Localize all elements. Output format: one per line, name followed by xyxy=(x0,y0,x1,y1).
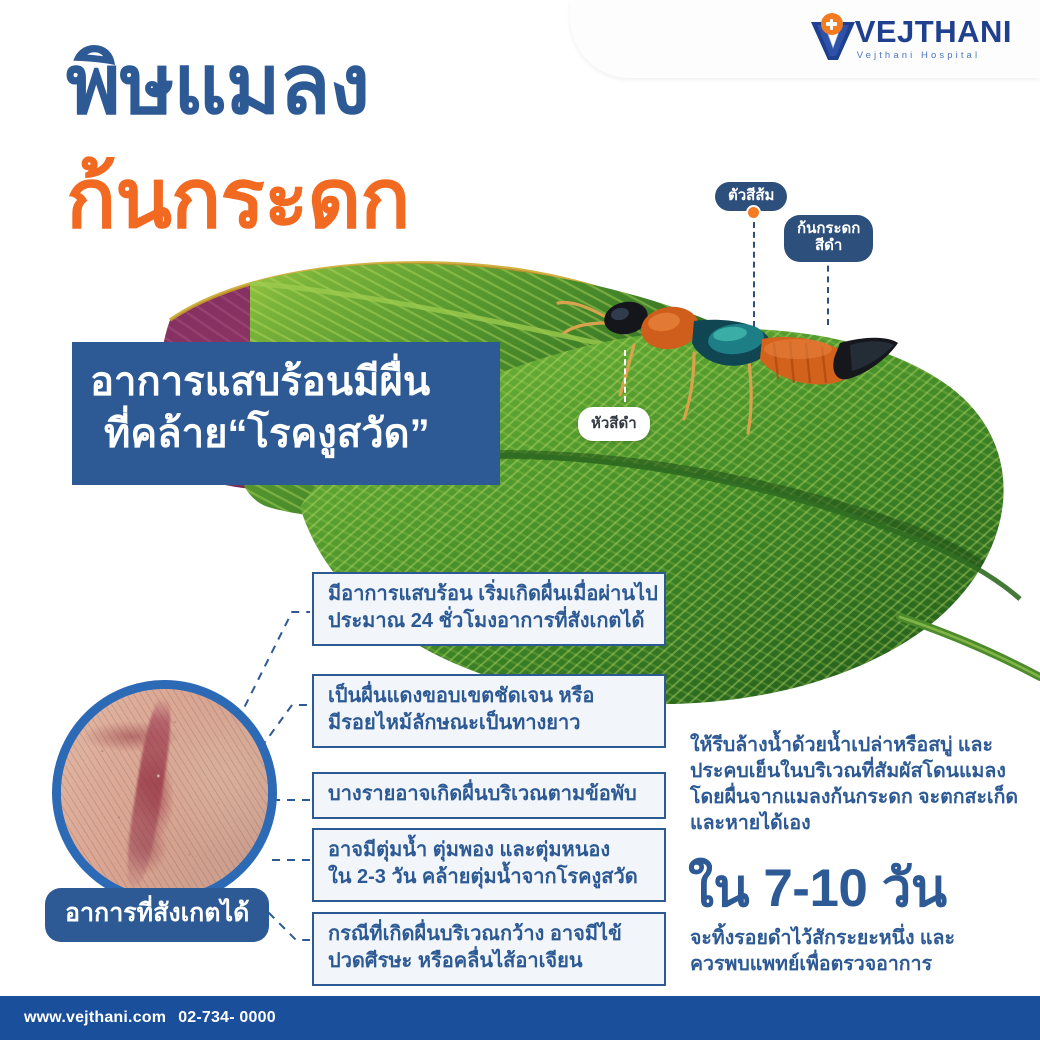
rash-skin-hair xyxy=(61,689,268,896)
callout-orange-body-label: ตัวสีส้ม xyxy=(728,187,774,204)
symptom-box-1: มีอาการแสบร้อน เริ่มเกิดผื่นเมื่อผ่านไป … xyxy=(312,572,666,646)
callout-orange-connector xyxy=(753,222,755,327)
headline-line1: อาการแสบร้อนมีผื่น xyxy=(90,356,482,408)
advice-line3: โดยผื่นจากแมลงก้นกระดก จะตกสะเก็ด xyxy=(690,785,1030,811)
recovery-duration-heading: ใน 7-10 วัน xyxy=(688,862,947,915)
page-title-line1: พิษแมลง xyxy=(66,46,369,125)
symptom-box-5: กรณีที่เกิดผื่นบริเวณกว้าง อาจมีไข้ ปวดศ… xyxy=(312,912,666,986)
advice-paragraph: ให้รีบล้างน้ำด้วยน้ำเปล่าหรือสบู่ และ ปร… xyxy=(690,733,1030,837)
callout-orange-dot-icon xyxy=(746,205,761,220)
recovery-note: จะทิ้งรอยดำไว้สักระยะหนึ่ง และ ควรพบแพทย… xyxy=(690,926,1030,978)
advice-line1: ให้รีบล้างน้ำด้วยน้ำเปล่าหรือสบู่ และ xyxy=(690,733,1030,759)
callout-black-head: หัวสีดำ xyxy=(578,407,650,441)
infographic-poster: VEJTHANI Vejthani Hospital พิษแมลง ก้นกร… xyxy=(0,0,1040,1040)
symptom-box-2: เป็นผื่นแดงขอบเขตชัดเจน หรือ มีรอยไหม้ลั… xyxy=(312,674,666,748)
advice-line2: ประคบเย็นในบริเวณที่สัมผัสโดนแมลง xyxy=(690,759,1030,785)
footer-phone[interactable]: 02-734- 0000 xyxy=(178,1009,276,1027)
advice-line4: และหายได้เอง xyxy=(690,811,1030,837)
symptom-2-line1: เป็นผื่นแดงขอบเขตชัดเจน หรือ xyxy=(328,683,652,710)
callout-black-tail-line1: ก้นกระดก xyxy=(797,220,860,237)
symptom-2-line2: มีรอยไหม้ลักษณะเป็นทางยาว xyxy=(328,710,652,737)
symptom-3-line1: บางรายอาจเกิดผื่นบริเวณตามข้อพับ xyxy=(328,781,652,808)
symptom-1-line1: มีอาการแสบร้อน เริ่มเกิดผื่นเมื่อผ่านไป xyxy=(328,581,652,608)
callout-black-head-connector xyxy=(624,350,626,402)
symptom-4-line2: ใน 2-3 วัน คล้ายตุ่มน้ำจากโรคงูสวัด xyxy=(328,864,652,891)
symptom-box-4: อาจมีตุ่มน้ำ ตุ่มพอง และตุ่มหนอง ใน 2-3 … xyxy=(312,828,666,902)
symptom-1-line2: ประมาณ 24 ชั่วโมงอาการที่สังเกตได้ xyxy=(328,608,652,635)
rash-photo xyxy=(52,680,277,905)
callout-black-tail: ก้นกระดก สีดำ xyxy=(784,215,873,262)
recovery-note-line1: จะทิ้งรอยดำไว้สักระยะหนึ่ง และ xyxy=(690,926,1030,952)
symptom-5-line2: ปวดศีรษะ หรือคลื่นไส้อาเจียน xyxy=(328,948,652,975)
recovery-note-line2: ควรพบแพทย์เพื่อตรวจอาการ xyxy=(690,952,1030,978)
status-badge-observable-symptoms: อาการที่สังเกตได้ xyxy=(45,888,269,942)
footer-bar: www.vejthani.com 02-734- 0000 xyxy=(0,996,1040,1040)
headline-line2: ที่คล้าย“โรคงูสวัด” xyxy=(90,408,482,460)
symptom-box-3: บางรายอาจเกิดผื่นบริเวณตามข้อพับ xyxy=(312,772,666,819)
page-title-line2: ก้นกระดก xyxy=(66,160,410,239)
headline-banner: อาการแสบร้อนมีผื่น ที่คล้าย“โรคงูสวัด” xyxy=(72,342,500,485)
symptom-4-line1: อาจมีตุ่มน้ำ ตุ่มพอง และตุ่มหนอง xyxy=(328,837,652,864)
callout-black-head-label: หัวสีดำ xyxy=(591,415,637,432)
callout-black-tail-connector xyxy=(827,255,829,325)
footer-website[interactable]: www.vejthani.com xyxy=(24,1009,166,1027)
callout-black-tail-line2: สีดำ xyxy=(797,237,860,254)
symptom-5-line1: กรณีที่เกิดผื่นบริเวณกว้าง อาจมีไข้ xyxy=(328,921,652,948)
